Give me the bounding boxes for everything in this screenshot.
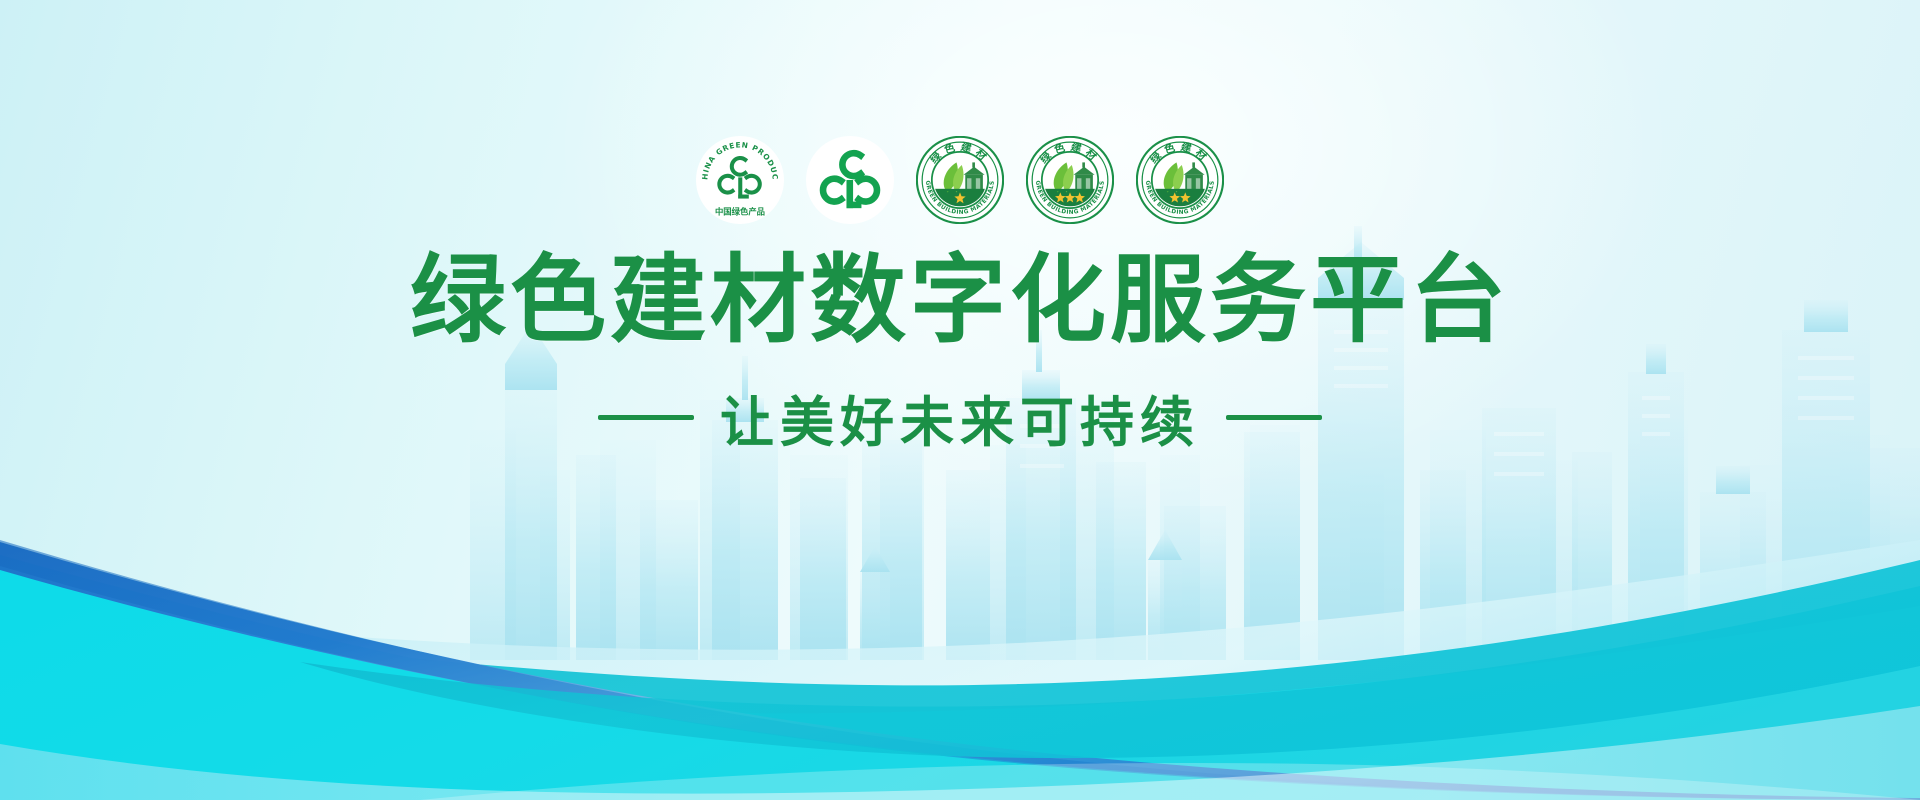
china-green-product-ring-badge[interactable]: CHINA GREEN PRODUCT 中国绿色产品 <box>696 136 784 224</box>
green-building-materials-banner: CHINA GREEN PRODUCT 中国绿色产品 <box>0 0 1920 800</box>
subtitle-rule-right <box>1226 415 1322 420</box>
green-building-materials-1-star-badge[interactable]: 绿色建材 GREEN BUILDING MATERIALS <box>916 136 1004 224</box>
page-subtitle: 让美好未来可持续 <box>720 378 1200 457</box>
badge-cn-text: 中国绿色产品 <box>715 206 765 216</box>
headline-block: 绿色建材数字化服务平台 让美好未来可持续 <box>0 250 1920 457</box>
page-title: 绿色建材数字化服务平台 <box>0 250 1920 352</box>
certification-badge-row: CHINA GREEN PRODUCT 中国绿色产品 <box>0 136 1920 224</box>
subtitle-row: 让美好未来可持续 <box>0 378 1920 457</box>
green-building-materials-2-star-badge[interactable]: 绿色建材 GREEN BUILDING MATERIALS <box>1136 136 1224 224</box>
china-green-product-plain-badge[interactable] <box>806 136 894 224</box>
green-building-materials-3-star-badge[interactable]: 绿色建材 GREEN BUILDING MATERIALS <box>1026 136 1114 224</box>
subtitle-rule-left <box>598 415 694 420</box>
badge-emblem <box>1154 154 1207 207</box>
